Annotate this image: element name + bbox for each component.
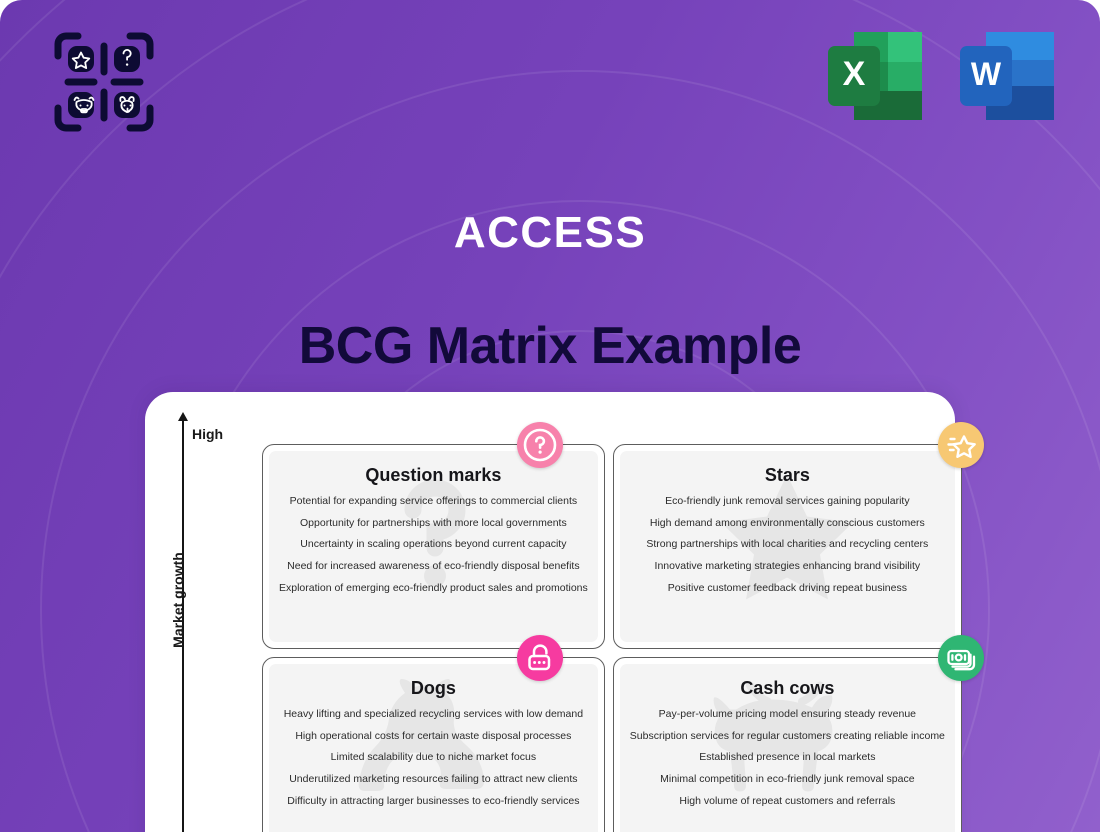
quadrant-title: Cash cows — [630, 678, 945, 699]
question-mark-icon — [517, 422, 563, 468]
page-kicker: ACCESS — [0, 208, 1100, 258]
list-item: Uncertainty in scaling operations beyond… — [279, 538, 588, 551]
list-item: Subscription services for regular custom… — [630, 730, 945, 743]
list-item: Pay-per-volume pricing model ensuring st… — [630, 708, 945, 721]
list-item: High operational costs for certain waste… — [279, 730, 588, 743]
list-item: Limited scalability due to niche market … — [279, 751, 588, 764]
list-item: Potential for expanding service offering… — [279, 495, 588, 508]
quadrant-item-list: Potential for expanding service offering… — [279, 495, 588, 595]
list-item: Heavy lifting and specialized recycling … — [279, 708, 588, 721]
list-item: Minimal competition in eco-friendly junk… — [630, 773, 945, 786]
y-axis-title: Market growth — [170, 552, 186, 648]
quadrant-item-list: Heavy lifting and specialized recycling … — [279, 708, 588, 808]
list-item: Eco-friendly junk removal services gaini… — [630, 495, 945, 508]
office-app-icons: X W — [824, 26, 1060, 126]
svg-text:X: X — [843, 55, 866, 93]
unlock-icon — [517, 635, 563, 681]
list-item: Underutilized marketing resources failin… — [279, 773, 588, 786]
bcg-matrix-logo-icon — [48, 26, 160, 138]
quadrant-title: Question marks — [279, 465, 588, 486]
list-item: Innovative marketing strategies enhancin… — [630, 560, 945, 573]
list-item: Exploration of emerging eco-friendly pro… — [279, 582, 588, 595]
svg-text:W: W — [971, 56, 1002, 92]
list-item: Established presence in local markets — [630, 751, 945, 764]
list-item: Strong partnerships with local charities… — [630, 538, 945, 551]
quadrant-dogs[interactable]: Dogs Heavy lifting and specialized recyc… — [262, 657, 605, 832]
list-item: High demand among environmentally consci… — [630, 517, 945, 530]
word-icon[interactable]: W — [956, 26, 1060, 126]
quadrant-item-list: Pay-per-volume pricing model ensuring st… — [630, 708, 945, 808]
banknotes-icon — [938, 635, 984, 681]
quadrant-cash-cows[interactable]: Cash cows Pay-per-volume pricing model e… — [613, 657, 962, 832]
y-axis-high-label: High — [192, 426, 223, 442]
list-item: Opportunity for partnerships with more l… — [279, 517, 588, 530]
list-item: Difficulty in attracting larger business… — [279, 795, 588, 808]
slide-canvas: X W ACCESS BCG Matrix Example High Marke… — [0, 0, 1100, 832]
quadrant-title: Dogs — [279, 678, 588, 699]
star-icon — [938, 422, 984, 468]
list-item: Need for increased awareness of eco-frie… — [279, 560, 588, 573]
bcg-matrix-grid: Question marks Potential for expanding s… — [262, 444, 925, 832]
page-title: BCG Matrix Example — [0, 316, 1100, 376]
list-item: Positive customer feedback driving repea… — [630, 582, 945, 595]
quadrant-question-marks[interactable]: Question marks Potential for expanding s… — [262, 444, 605, 649]
excel-icon[interactable]: X — [824, 26, 928, 126]
quadrant-item-list: Eco-friendly junk removal services gaini… — [630, 495, 945, 595]
list-item: High volume of repeat customers and refe… — [630, 795, 945, 808]
quadrant-title: Stars — [630, 465, 945, 486]
matrix-card: High Market growth — [145, 392, 955, 832]
quadrant-stars[interactable]: Stars Eco-friendly junk removal services… — [613, 444, 962, 649]
